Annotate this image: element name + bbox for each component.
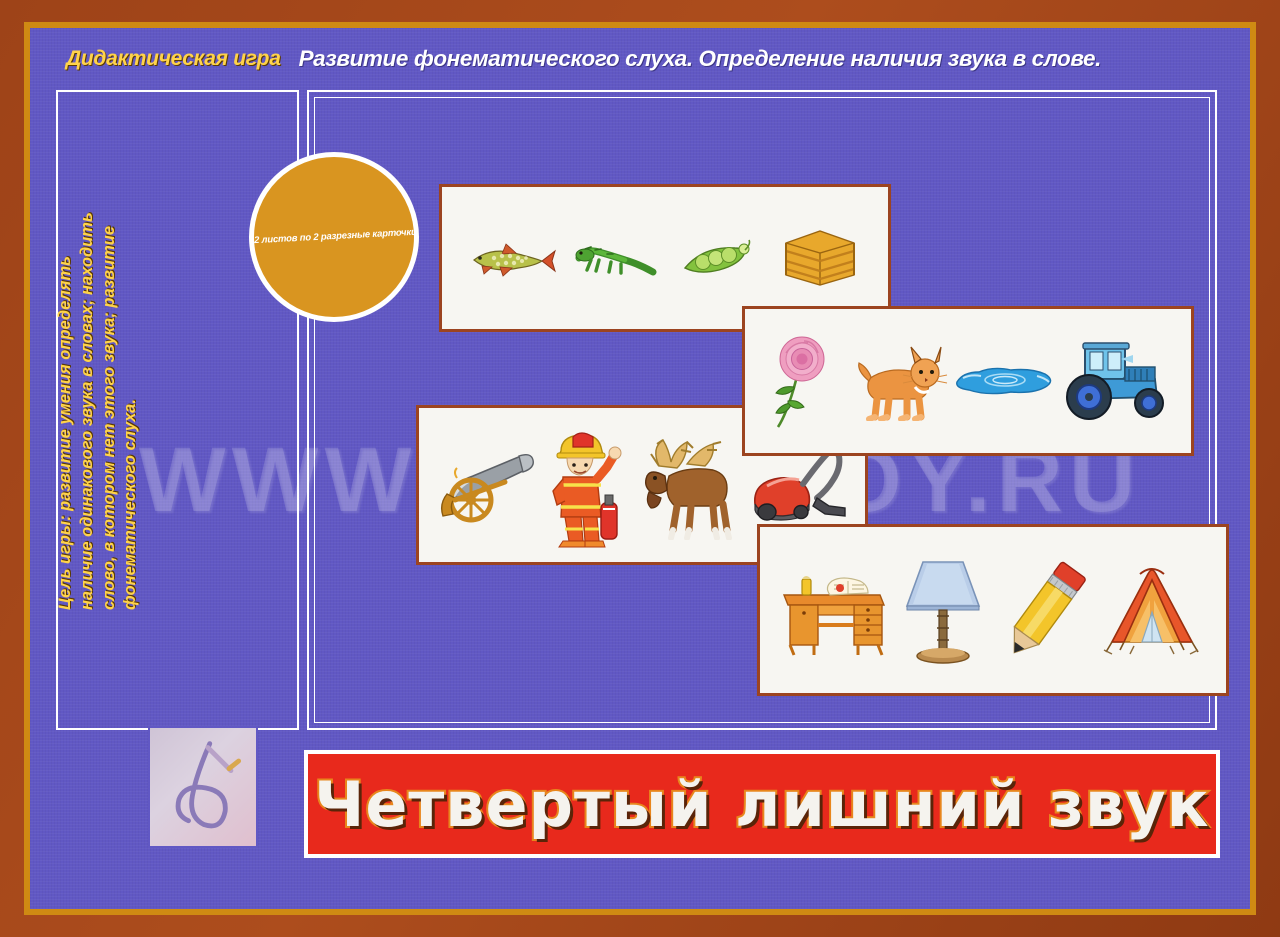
pencil-icon — [993, 527, 1094, 693]
firefighter-icon — [543, 408, 629, 562]
sheet-count-badge-label: 12 листов по 2 разрезные карточки. — [249, 227, 420, 246]
purple-field: Дидактическая игра Развитие фонематическ… — [30, 28, 1250, 909]
moose-icon — [629, 408, 745, 562]
publisher-logo-mark — [148, 726, 258, 848]
tractor-icon — [1059, 309, 1175, 453]
lynx-icon — [845, 309, 949, 453]
card-row[interactable] — [757, 524, 1229, 696]
header: Дидактическая игра Развитие фонематическ… — [30, 34, 1250, 84]
lizard-icon — [562, 187, 666, 329]
sheet-count-badge: 12 листов по 2 разрезные карточки. — [249, 152, 419, 322]
header-kicker: Дидактическая игра — [66, 47, 281, 71]
rose-icon — [761, 309, 845, 453]
puddle-icon — [949, 309, 1059, 453]
game-title-banner: Четвертый лишний звук — [304, 750, 1220, 858]
pike-fish-icon — [458, 187, 562, 329]
desk-icon — [776, 527, 892, 693]
goal-text-container: Цель игры: развитие умения определять на… — [56, 90, 299, 730]
goal-text: Цель игры: развитие умения определять на… — [55, 210, 142, 611]
tent-icon — [1094, 527, 1210, 693]
game-title: Четвертый лишний звук — [314, 768, 1210, 841]
table-lamp-icon — [892, 527, 993, 693]
card-row[interactable] — [742, 306, 1194, 456]
cannon-icon — [435, 408, 543, 562]
page-title: Развитие фонематического слуха. Определе… — [299, 46, 1101, 72]
poster-root: Дидактическая игра Развитие фонематическ… — [0, 0, 1280, 937]
